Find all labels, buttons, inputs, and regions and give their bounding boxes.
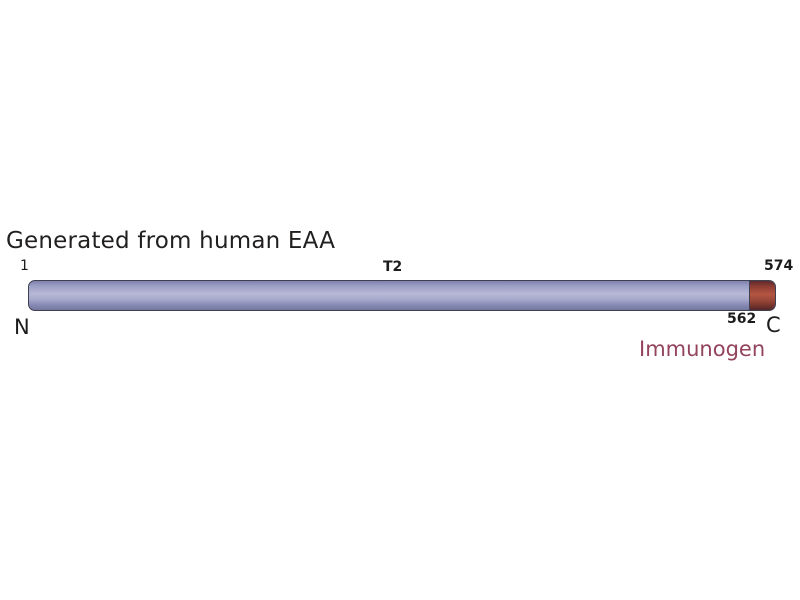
position-label-immunogen-start: 562 — [727, 311, 756, 327]
immunogen-region-segment — [749, 281, 775, 310]
figure-title: Generated from human EAA — [6, 228, 335, 254]
position-label-start: 1 — [20, 258, 29, 274]
n-terminus-label: N — [14, 315, 30, 339]
protein-diagram — [28, 280, 776, 311]
c-terminus-label: C — [766, 313, 781, 337]
position-label-end: 574 — [764, 258, 793, 274]
protein-full-length-bar — [28, 280, 776, 311]
immunogen-caption: Immunogen — [639, 337, 765, 361]
figure-canvas: Generated from human EAA 1 T2 574 562 N … — [0, 0, 800, 600]
position-label-middle: T2 — [383, 259, 402, 275]
